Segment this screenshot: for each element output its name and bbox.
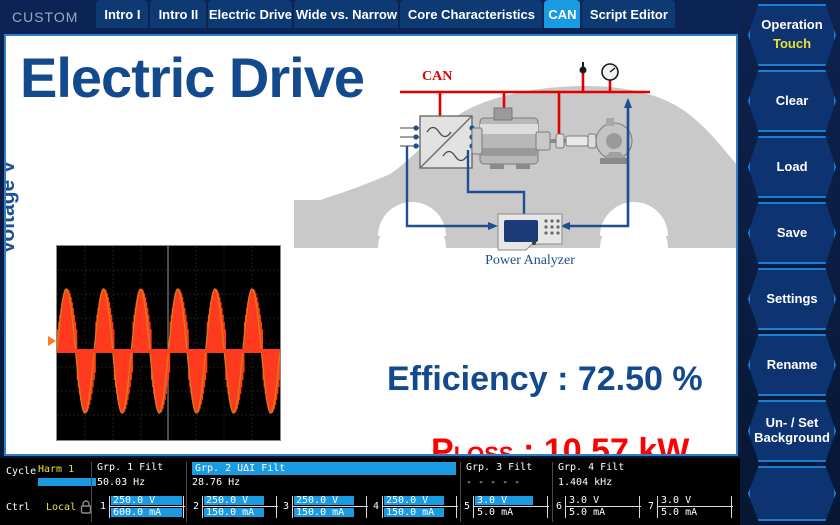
softkey-rename[interactable]: Rename [748, 334, 836, 396]
softkey-settings[interactable]: Settings [748, 268, 836, 330]
channel-current-value: 600.0 mA [113, 507, 161, 518]
status-bar: Cycle Harm 1 Ctrl Local Grp. 1 Filt50.03… [0, 458, 740, 525]
group-frequency: 28.76 Hz [192, 477, 240, 488]
channel-current-value: 5.0 mA [569, 507, 605, 518]
ctrl-label: Ctrl [6, 502, 30, 513]
channel-voltage-value: 3.0 V [661, 495, 691, 506]
channel-number: 2 [193, 501, 199, 512]
ploss-readout: PLOSS : 10.57 kW [431, 432, 689, 456]
softkey-label: Settings [766, 292, 817, 307]
channel-voltage-value: 250.0 V [113, 495, 155, 506]
channel-current-value: 5.0 mA [477, 507, 513, 518]
efficiency-readout: Efficiency : 72.50 % [387, 360, 703, 399]
efficiency-value: 72.50 % [578, 360, 703, 398]
channel-number: 4 [373, 501, 379, 512]
softkey-label: Save [777, 226, 807, 241]
group-header[interactable]: Grp. 3 Filt [466, 462, 532, 473]
tab-list: Intro IIntro IIElectric DriveWide vs. Na… [90, 0, 740, 34]
softkey-un-set-background[interactable]: Un- / SetBackground [748, 400, 836, 462]
shaft-coupling-icon [550, 134, 596, 148]
softkey-empty [748, 466, 836, 521]
tab-bar: CUSTOM Intro IIntro IIElectric DriveWide… [0, 0, 740, 34]
group-divider [552, 462, 553, 522]
tab-electric-drive[interactable]: Electric Drive [208, 0, 292, 28]
channel-current-value: 150.0 mA [296, 507, 344, 518]
inverter-icon [420, 116, 472, 168]
custom-label: CUSTOM [6, 9, 88, 34]
channel-2[interactable]: 2250.0 V150.0 mA [193, 494, 281, 520]
tab-core-characteristics[interactable]: Core Characteristics [400, 0, 542, 28]
softkey-operation[interactable]: OperationTouch [748, 4, 836, 66]
channel-voltage-value: 250.0 V [296, 495, 338, 506]
channel-number: 7 [648, 501, 654, 512]
channel-current-value: 150.0 mA [206, 507, 254, 518]
channel-4[interactable]: 4250.0 V150.0 mA [373, 494, 461, 520]
channel-number: 3 [283, 501, 289, 512]
softkey-clear[interactable]: Clear [748, 70, 836, 132]
status-cycle-section: Cycle Harm 1 Ctrl Local [6, 458, 94, 525]
instrument-screen: CUSTOM Intro IIntro IIElectric DriveWide… [0, 0, 840, 525]
group-frequency: - - - - - [466, 477, 520, 488]
can-label: CAN [422, 69, 452, 84]
channel-voltage-value: 3.0 V [477, 495, 507, 506]
channel-voltage-value: 3.0 V [569, 495, 599, 506]
group-header[interactable]: Grp. 1 Filt [97, 462, 163, 473]
channel-number: 1 [100, 501, 106, 512]
softkey-label: Rename [767, 358, 818, 373]
softkey-label: Clear [776, 94, 809, 109]
channel-current-value: 150.0 mA [386, 507, 434, 518]
tab-can[interactable]: CAN [544, 0, 580, 28]
group-frequency: 1.404 kHz [558, 477, 612, 488]
ploss-prefix: P [431, 432, 454, 456]
channel-1[interactable]: 1250.0 V600.0 mA [100, 494, 188, 520]
channel-number: 6 [556, 501, 562, 512]
softkey-label: Un- / SetBackground [754, 416, 830, 446]
softkey-sublabel: Touch [773, 37, 811, 52]
softkey-sidebar: OperationTouchClearLoadSaveSettingsRenam… [744, 0, 840, 525]
channel-number: 5 [464, 501, 470, 512]
cycle-bar [38, 478, 96, 486]
scope-cursor-marker [48, 336, 56, 346]
tab-script-editor[interactable]: Script Editor [582, 0, 675, 28]
softkey-label: Operation [761, 18, 822, 33]
efficiency-label: Efficiency : [387, 360, 578, 398]
power-analyzer-label: Power Analyzer [485, 253, 575, 268]
group-divider [91, 462, 92, 522]
channel-voltage-value: 250.0 V [206, 495, 248, 506]
group-frequency: 50.03 Hz [97, 477, 145, 488]
oscilloscope-display[interactable] [56, 245, 281, 441]
channel-3[interactable]: 3250.0 V150.0 mA [283, 494, 371, 520]
ctrl-value[interactable]: Local [46, 502, 76, 513]
group-header[interactable]: Grp. 2 UΔI Filt [192, 462, 456, 475]
cycle-value[interactable]: Harm 1 [38, 464, 74, 475]
scope-caption: VFD Output [56, 452, 281, 456]
channel-5[interactable]: 53.0 V5.0 mA [464, 494, 552, 520]
ploss-subscript: LOSS [454, 442, 514, 456]
ploss-value: 10.57 kW [544, 432, 690, 456]
softkey-label: Load [776, 160, 807, 175]
softkey-save[interactable]: Save [748, 202, 836, 264]
cycle-label: Cycle [6, 466, 36, 477]
slide-content: Electric Drive [4, 34, 738, 456]
channel-6[interactable]: 63.0 V5.0 mA [556, 494, 644, 520]
channel-voltage-value: 250.0 V [386, 495, 428, 506]
tab-wide-vs-narrow[interactable]: Wide vs. Narrow [294, 0, 398, 28]
tab-intro-ii[interactable]: Intro II [150, 0, 206, 28]
ploss-separator: : [514, 432, 544, 456]
tab-intro-i[interactable]: Intro I [96, 0, 148, 28]
softkey-load[interactable]: Load [748, 136, 836, 198]
electric-drive-diagram: Power Analyzer CAN [294, 40, 738, 330]
channel-7[interactable]: 73.0 V5.0 mA [648, 494, 736, 520]
scope-y-axis-label: Voltage V [4, 137, 20, 277]
group-header[interactable]: Grp. 4 Filt [558, 462, 624, 473]
channel-current-value: 5.0 mA [661, 507, 697, 518]
